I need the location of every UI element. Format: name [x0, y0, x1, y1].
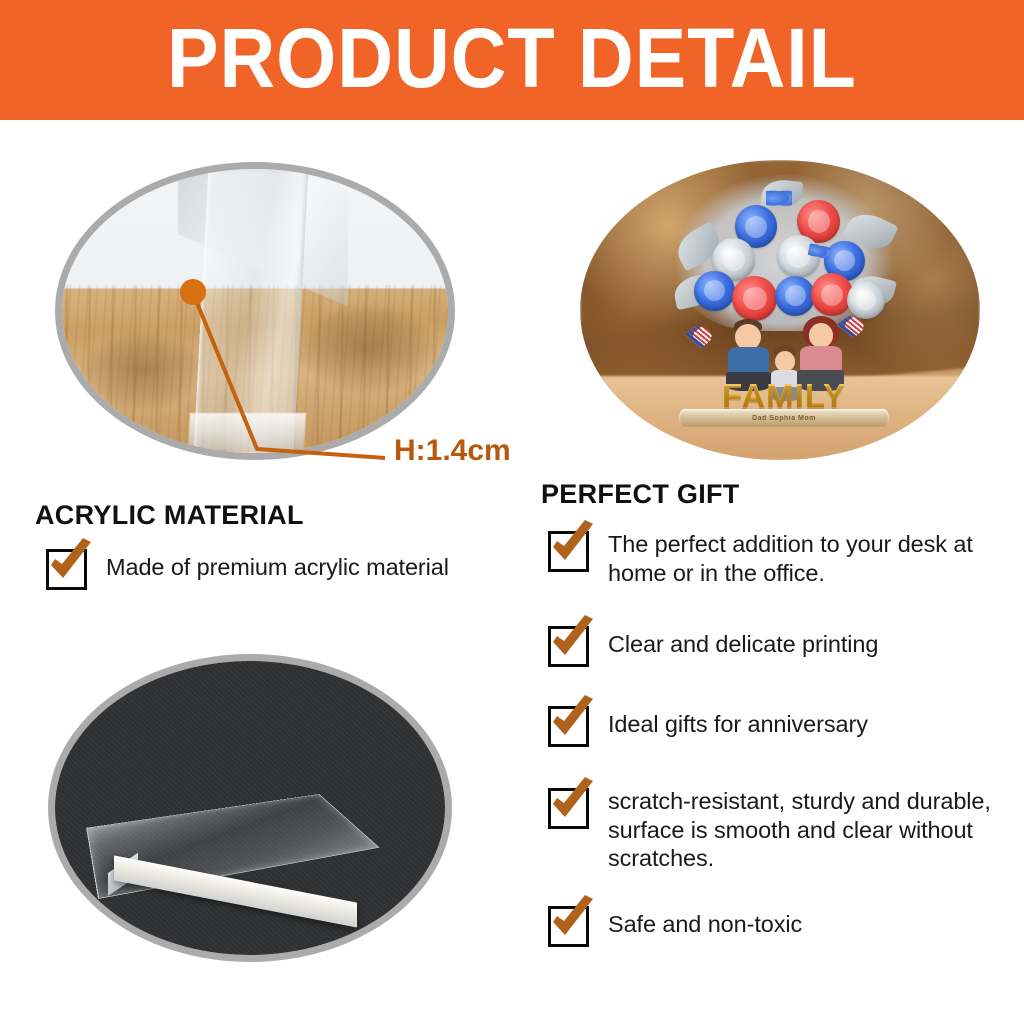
blue-rose: [694, 271, 734, 311]
acrylic-edge-photo: [55, 162, 455, 460]
feature-item: Safe and non-toxic: [548, 905, 1003, 947]
plaque-base: Dad Sophia Mom: [679, 409, 890, 427]
feature-text: Ideal gifts for anniversary: [608, 710, 868, 739]
plaque-base-caption: Dad Sophia Mom: [679, 409, 890, 427]
feature-text: The perfect addition to your desk at hom…: [608, 530, 1003, 587]
header-banner: PRODUCT DETAIL: [0, 0, 1024, 120]
us-flag-heart-icon: [685, 323, 716, 348]
family-plaque-photo: FAMILY Dad Sophia Mom: [580, 160, 980, 460]
checkbox-checked-icon: [46, 549, 87, 590]
feature-item: Ideal gifts for anniversary: [548, 705, 1003, 747]
acrylic-standing-panel: [194, 169, 309, 453]
feature-item: scratch-resistant, sturdy and durable, s…: [548, 787, 1008, 873]
thickness-label: H:1.4cm: [394, 434, 511, 468]
feature-item: The perfect addition to your desk at hom…: [548, 530, 1003, 587]
acrylic-block-photo: [48, 654, 452, 962]
wood-knot: [85, 334, 201, 408]
checkbox-checked-icon: [548, 906, 589, 947]
feature-item: Made of premium acrylic material: [46, 548, 516, 590]
checkbox-checked-icon: [548, 626, 589, 667]
butterfly-icon: [766, 190, 792, 207]
section-heading-perfect-gift: PERFECT GIFT: [541, 479, 740, 510]
checkbox-checked-icon: [548, 531, 589, 572]
acrylic-plaque: FAMILY Dad Sophia Mom: [672, 175, 896, 427]
feature-text: Made of premium acrylic material: [106, 553, 449, 582]
feature-text: scratch-resistant, sturdy and durable, s…: [608, 787, 1008, 873]
silver-rose: [847, 281, 885, 319]
feature-item: Clear and delicate printing: [548, 625, 1003, 667]
acrylic-base-edge: [188, 413, 306, 450]
feature-text: Clear and delicate printing: [608, 630, 878, 659]
feature-text: Safe and non-toxic: [608, 910, 802, 939]
wood-knot: [301, 305, 432, 390]
red-rose: [732, 276, 777, 321]
acrylic-block: [102, 720, 398, 914]
page-title: PRODUCT DETAIL: [167, 16, 857, 100]
section-heading-acrylic-material: ACRYLIC MATERIAL: [35, 500, 304, 531]
checkbox-checked-icon: [548, 788, 589, 829]
checkbox-checked-icon: [548, 706, 589, 747]
